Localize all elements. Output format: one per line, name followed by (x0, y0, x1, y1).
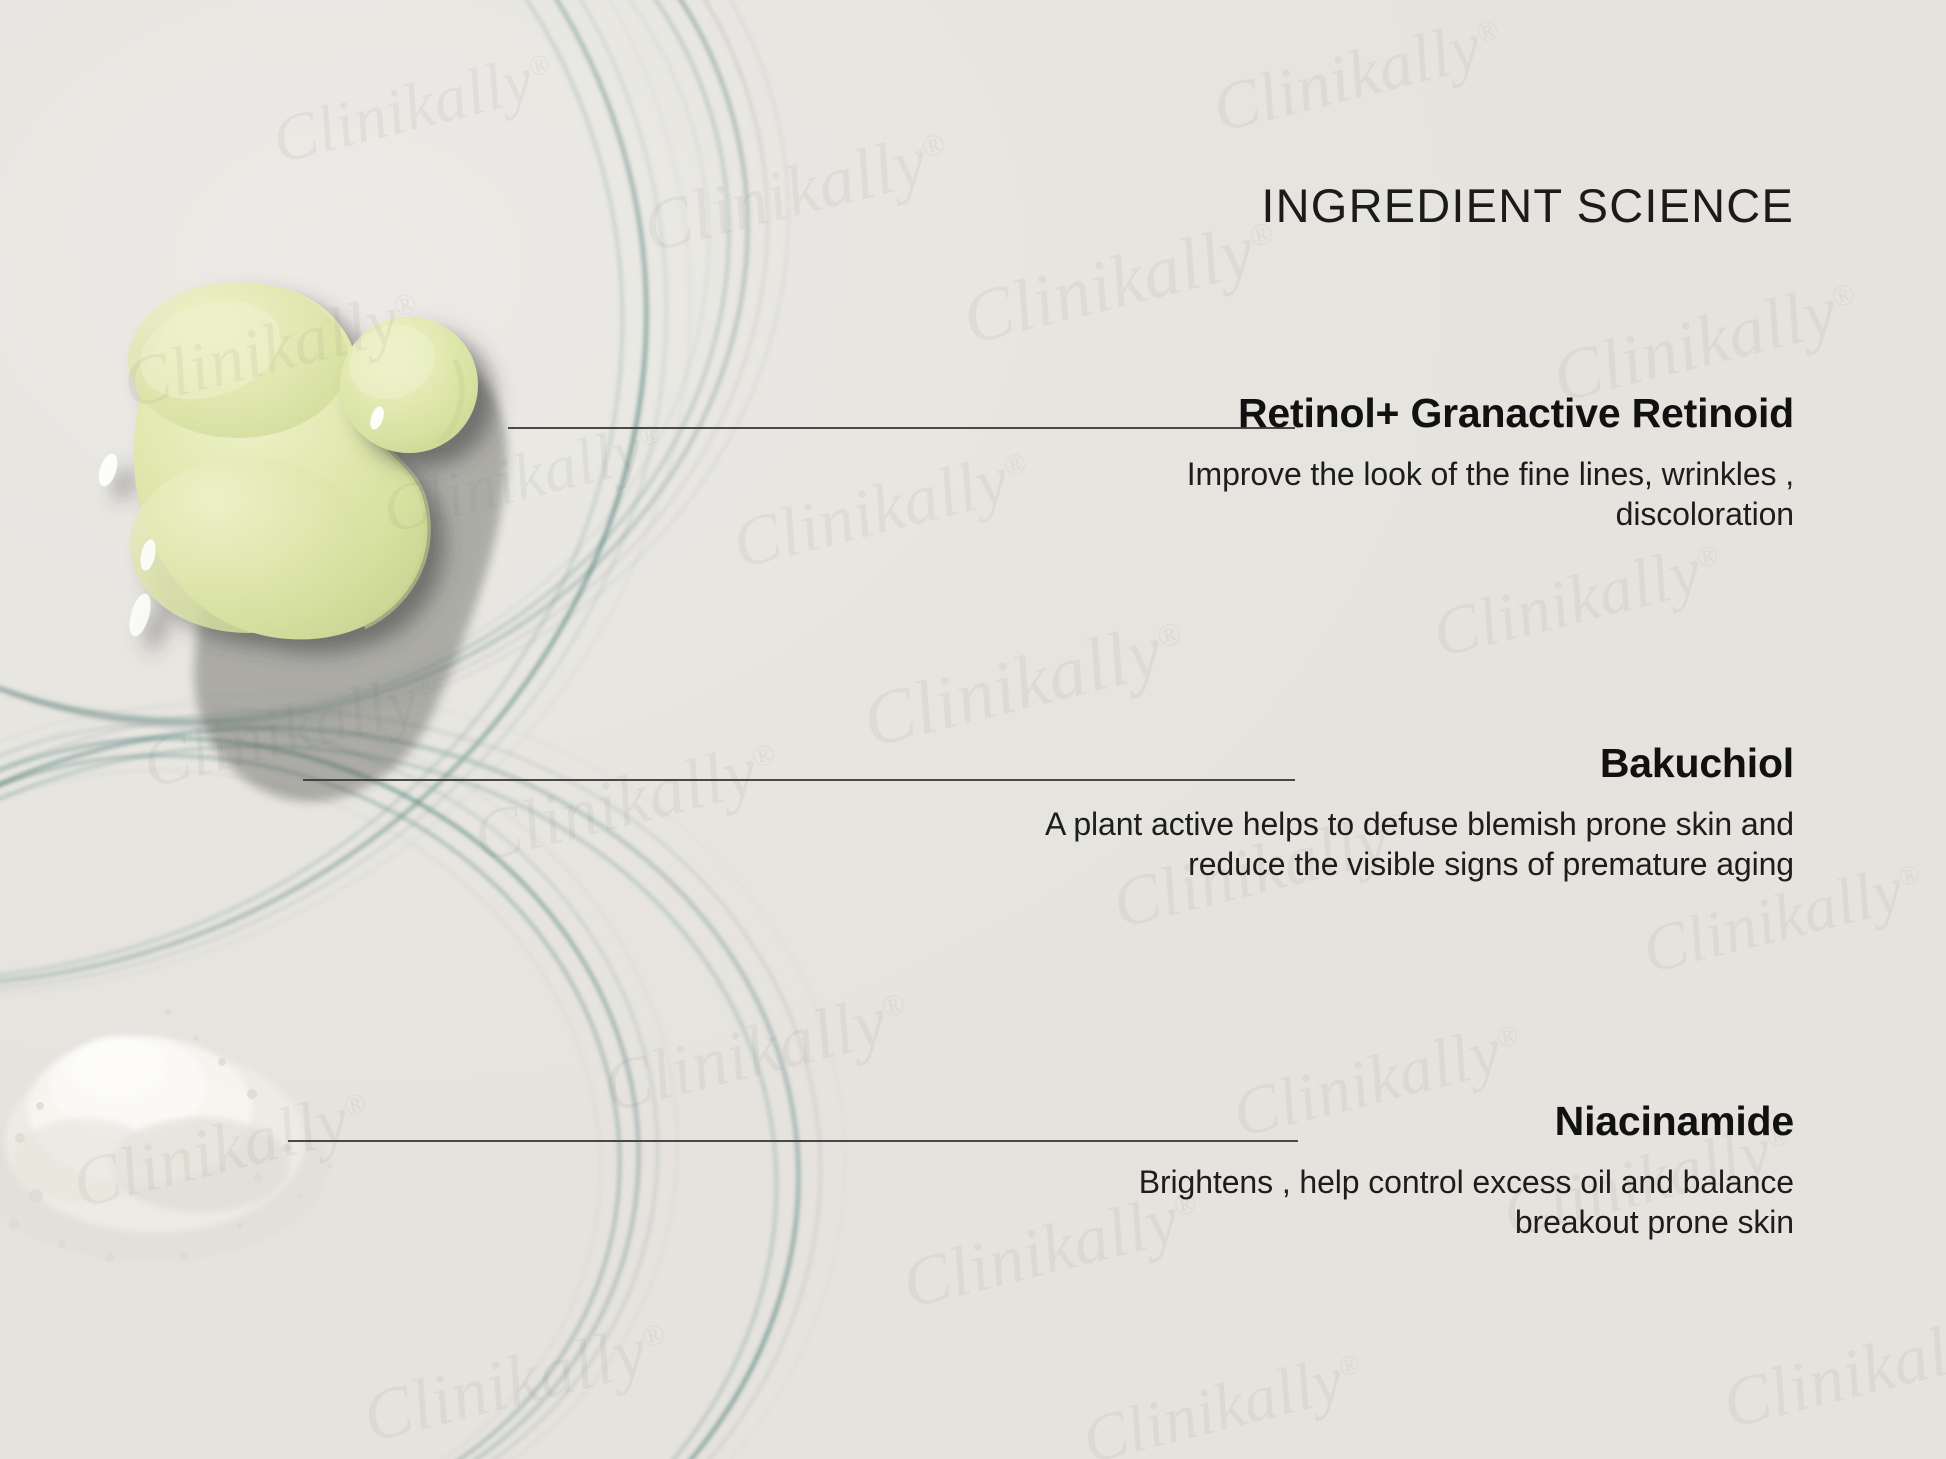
serum-droplet-large (95, 282, 427, 639)
petri-circle-bottom-left (0, 632, 745, 1459)
watermark: Clinikally® (355, 1303, 678, 1459)
ingredient-info-panel: INGREDIENT SCIENCE Retinol+ Granactive R… (1000, 0, 1830, 1459)
ingredient-description-niacinamide: Brightens , help control excess oil and … (1034, 1162, 1794, 1242)
watermark: Clinikally® (465, 723, 788, 879)
watermark: Clinikally® (725, 434, 1039, 585)
watermark: Clinikally® (135, 654, 449, 805)
ingredient-item-retinol: Retinol+ Granactive Retinoid Improve the… (1034, 390, 1794, 534)
ingredient-item-bakuchiol: Bakuchiol A plant active helps to defuse… (1034, 740, 1794, 884)
petri-circle-bottom-right (0, 618, 910, 1459)
ingredient-description-bakuchiol: A plant active helps to defuse blemish p… (1034, 804, 1794, 884)
powder-mound (0, 1036, 328, 1262)
watermark: Clinikally® (265, 36, 562, 179)
powder-specks (9, 1009, 333, 1263)
ingredient-name-retinol: Retinol+ Granactive Retinoid (1034, 390, 1794, 438)
watermark: Clinikally® (115, 274, 429, 425)
watermark: Clinikally® (635, 113, 958, 269)
ingredient-name-bakuchiol: Bakuchiol (1034, 740, 1794, 788)
serum-droplet-small (338, 313, 478, 453)
ingredient-description-retinol: Improve the look of the fine lines, wrin… (1034, 454, 1794, 534)
poster-canvas: Clinikally®Clinikally®Clinikally®Clinika… (0, 0, 1946, 1459)
watermark: Clinikally® (65, 1074, 379, 1225)
page-title: INGREDIENT SCIENCE (1261, 178, 1794, 233)
ingredient-name-niacinamide: Niacinamide (1034, 1098, 1794, 1146)
droplet-shadow (194, 362, 507, 802)
petri-circle-top (0, 0, 880, 831)
watermark: Clinikally® (595, 973, 918, 1129)
petri-circle-middle (0, 0, 849, 1162)
ingredient-item-niacinamide: Niacinamide Brightens , help control exc… (1034, 1098, 1794, 1242)
